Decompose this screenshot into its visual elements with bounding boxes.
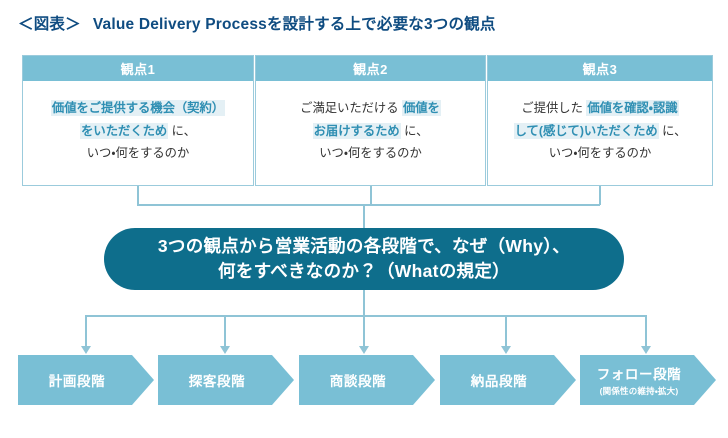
perspective-3-body: ご提供した 価値を確認・認識 して(感じて)いただくため に、 いつ・何をするの… [488, 81, 712, 185]
perspective-2-line2: お届けするため に、 [313, 120, 429, 143]
perspective-1-body: 価値をご提供する機会（契約） をいただくため に、 いつ・何をするのか [23, 81, 253, 185]
perspective-2-heading: 観点2 [256, 56, 485, 81]
stage-4-label: 納品段階 [471, 370, 527, 390]
stage-5-label: フォロー段階 [597, 363, 682, 383]
summary-pill: 3つの観点から営業活動の各段階で、なぜ（Why）、 何をすべきなのか？（What… [104, 228, 624, 290]
arrow-to-stage-2 [224, 315, 226, 347]
stage-2-label: 探客段階 [189, 370, 245, 390]
perspective-3-heading: 観点3 [488, 56, 712, 81]
perspective-box-3: 観点3 ご提供した 価値を確認・認識 して(感じて)いただくため に、 いつ・何… [487, 55, 713, 186]
perspective-1-line1-highlight: 価値をご提供する機会（契約） [51, 100, 225, 116]
stage-5-sublabel: (関係性の維持・拡大) [600, 385, 679, 397]
arrow-to-stage-3 [363, 315, 365, 347]
summary-line-2: 何をすべきなのか？（Whatの規定） [218, 259, 510, 284]
perspective-3-line1-highlight: 価値を確認・認識 [586, 100, 678, 116]
perspective-3-line2-plain: に、 [659, 124, 687, 138]
diagram-canvas: ＜図表＞Value Delivery Processを設計する上で必要な3つの観… [0, 0, 728, 438]
perspective-box-2: 観点2 ご満足いただける 価値を お届けするため に、 いつ・何をするのか [255, 55, 486, 186]
perspective-2-line1-plain: ご満足いただける [300, 101, 402, 115]
perspective-1-heading: 観点1 [23, 56, 253, 81]
stage-3-label: 商談段階 [330, 370, 386, 390]
perspective-box-1: 観点1 価値をご提供する機会（契約） をいただくため に、 いつ・何をするのか [22, 55, 254, 186]
stage-chevron-5[interactable]: フォロー段階 (関係性の維持・拡大) [580, 355, 716, 405]
stage-chevron-3[interactable]: 商談段階 [299, 355, 435, 405]
perspective-3-line2-highlight: して(感じて)いただくため [514, 123, 659, 139]
stage-chevron-2[interactable]: 探客段階 [158, 355, 294, 405]
arrow-to-stage-1 [85, 315, 87, 347]
figure-tag: ＜図表＞ [18, 16, 81, 33]
connector-drop-box2 [370, 186, 372, 205]
connector-drop-box3 [599, 186, 601, 205]
connector-bus-top [137, 204, 600, 206]
perspective-2-line2-plain: に、 [401, 124, 429, 138]
perspective-3-line3: いつ・何をするのか [549, 142, 652, 165]
connector-bus-to-pill [363, 204, 365, 230]
perspective-1-line2-plain: に、 [168, 124, 196, 138]
page-title: ＜図表＞Value Delivery Processを設計する上で必要な3つの観… [18, 12, 496, 34]
perspective-3-line1: ご提供した 価値を確認・認識 [521, 97, 678, 120]
perspective-2-line1-highlight: 価値を [402, 100, 441, 116]
perspective-2-line2-highlight: お届けするため [313, 123, 401, 139]
stage-1-label: 計画段階 [49, 370, 105, 390]
summary-line-1: 3つの観点から営業活動の各段階で、なぜ（Why）、 [158, 234, 570, 259]
perspective-1-line1: 価値をご提供する機会（契約） [51, 97, 225, 120]
stage-chevron-4[interactable]: 納品段階 [440, 355, 576, 405]
perspective-2-line3: いつ・何をするのか [319, 142, 422, 165]
title-text: Value Delivery Processを設計する上で必要な3つの観点 [93, 16, 496, 33]
perspective-2-body: ご満足いただける 価値を お届けするため に、 いつ・何をするのか [256, 81, 485, 185]
perspective-2-line1: ご満足いただける 価値を [300, 97, 441, 120]
arrow-to-stage-5 [645, 315, 647, 347]
perspective-3-line1-plain: ご提供した [521, 101, 586, 115]
connector-bus-bottom [85, 315, 646, 317]
perspective-3-line2: して(感じて)いただくため に、 [514, 120, 687, 143]
arrow-to-stage-4 [505, 315, 507, 347]
stage-chevron-1[interactable]: 計画段階 [18, 355, 154, 405]
perspective-1-line2-highlight: をいただくため [80, 123, 168, 139]
perspective-1-line2: をいただくため に、 [80, 120, 196, 143]
connector-drop-box1 [137, 186, 139, 205]
perspective-1-line3: いつ・何をするのか [87, 142, 190, 165]
connector-pill-to-bus [363, 290, 365, 316]
